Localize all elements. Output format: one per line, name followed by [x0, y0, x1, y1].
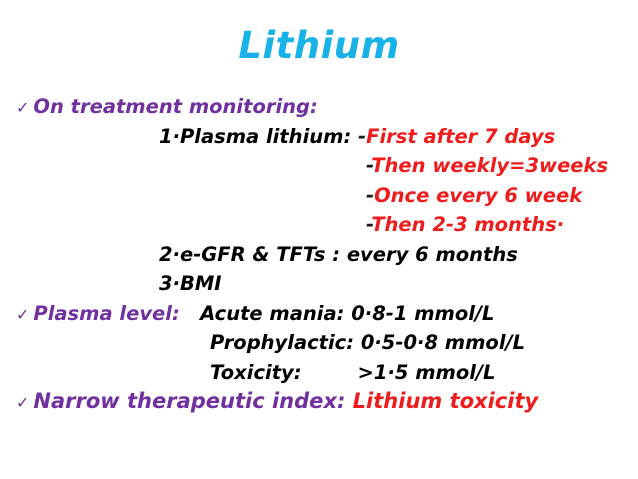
heading-monitoring: On treatment monitoring — [33, 95, 310, 118]
row-prophylactic: Prophylactic: 0·5-0·8 mmol/L — [0, 328, 638, 358]
sub-line-then-weekly: -Then weekly=3weeks — [0, 151, 638, 181]
heading-monitoring-colon: : — [310, 95, 318, 118]
sub-text-first-after-7-days: First after 7 days — [366, 125, 555, 148]
sub-line-then-2-3-months: -Then 2-3 months· — [0, 210, 638, 240]
bullet-narrow-therapeutic-index: ✓Narrow therapeutic index: Lithium toxic… — [0, 387, 638, 417]
sub-line-once-every-6-week: -Once every 6 week — [0, 181, 638, 211]
row-toxicity: Toxicity:>1·5 mmol/L — [0, 358, 638, 388]
row-value-acute-mania: 0·8-1 mmol/L — [351, 302, 494, 325]
slide-title: Lithium — [0, 24, 638, 68]
slide-body: ✓On treatment monitoring: 1·Plasma lithi… — [0, 92, 638, 417]
row-name-toxicity: Toxicity: — [210, 361, 302, 384]
heading-narrow-index: Narrow therapeutic index — [33, 389, 337, 413]
list-item-plasma-lithium: 1·Plasma lithium: -First after 7 days — [0, 122, 638, 152]
heading-narrow-index-colon: : — [337, 389, 345, 413]
sub-text-then-2-3-months: Then 2-3 months· — [371, 213, 564, 236]
item-number-2: 2· — [159, 243, 180, 266]
slide-canvas: Lithium ✓On treatment monitoring: 1·Plas… — [0, 0, 638, 479]
checkmark-icon: ✓ — [0, 98, 33, 117]
heading-plasma-level: Plasma level — [33, 302, 172, 325]
sub-dash-1: - — [358, 125, 366, 148]
item-label-plasma-lithium: Plasma lithium: — [180, 125, 351, 148]
item-number-1: 1· — [159, 125, 180, 148]
item-label-egfr-tfts: e-GFR & TFTs : every 6 months — [180, 243, 518, 266]
row-value-toxicity: >1·5 mmol/L — [358, 361, 496, 384]
list-item-egfr-tfts: 2·e-GFR & TFTs : every 6 months — [0, 240, 638, 270]
value-lithium-toxicity: Lithium toxicity — [353, 389, 539, 413]
checkmark-icon: ✓ — [0, 305, 33, 324]
list-item-bmi: 3·BMI — [0, 269, 638, 299]
checkmark-icon: ✓ — [0, 393, 33, 412]
sub-text-then-weekly: Then weekly=3weeks — [371, 154, 608, 177]
item-label-bmi: BMI — [180, 272, 222, 295]
row-name-acute-mania: Acute mania: — [200, 302, 344, 325]
sub-dash-3: - — [366, 184, 374, 207]
row-value-prophylactic: 0·5-0·8 mmol/L — [361, 331, 525, 354]
row-name-prophylactic: Prophylactic: — [210, 331, 354, 354]
bullet-on-treatment-monitoring: ✓On treatment monitoring: — [0, 92, 638, 122]
item-number-3: 3· — [159, 272, 180, 295]
bullet-plasma-level: ✓Plasma level: Acute mania: 0·8-1 mmol/L — [0, 299, 638, 329]
heading-plasma-level-colon: : — [172, 302, 180, 325]
sub-text-once-every-6-week: Once every 6 week — [374, 184, 582, 207]
